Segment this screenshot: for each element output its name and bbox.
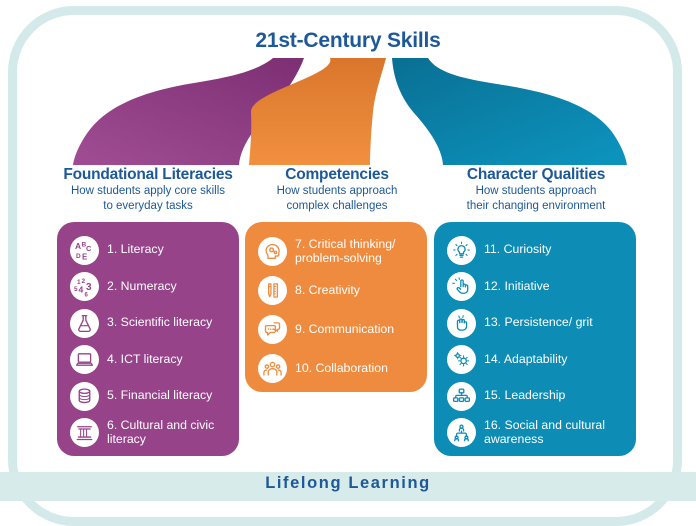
column-heading: Foundational Literacies [40, 165, 256, 184]
skill-item[interactable]: 4. ICT literacy [70, 342, 239, 379]
svg-text:A: A [75, 241, 81, 251]
svg-text:5: 5 [74, 286, 78, 293]
gears-icon [447, 345, 476, 374]
skill-item[interactable]: 1235462. Numeracy [70, 269, 239, 306]
skill-item[interactable]: 12. Initiative [447, 269, 636, 306]
column-header-character: Character Qualities How students approac… [434, 165, 638, 213]
speech-bubbles-icon [258, 315, 287, 344]
character-ribbon [392, 58, 627, 165]
skill-item-label: 6. Cultural and civic literacy [107, 419, 239, 446]
skill-item[interactable]: 15. Leadership [447, 378, 636, 415]
laptop-icon [70, 345, 99, 374]
org-chart-icon [447, 382, 476, 411]
head-gears-icon [258, 237, 287, 266]
skill-item[interactable]: 11. Curiosity [447, 232, 636, 269]
skill-item[interactable]: 14. Adaptability [447, 342, 636, 379]
lightbulb-icon [447, 236, 476, 265]
column-subheading-line2: their changing environment [434, 200, 638, 214]
skill-item[interactable]: 10. Collaboration [258, 349, 427, 388]
people-network-icon [447, 418, 476, 447]
skill-item-label: 4. ICT literacy [107, 353, 183, 367]
skill-item-label: 3. Scientific literacy [107, 316, 212, 330]
panel-foundational-literacies: ABCDE1. Literacy1235462. Numeracy3. Scie… [57, 222, 239, 456]
skill-item-label: 15. Leadership [484, 389, 565, 403]
lifelong-learning-label: Lifelong Learning [0, 474, 696, 493]
column-header-foundational: Foundational Literacies How students app… [40, 165, 256, 213]
column-header-competencies: Competencies How students approach compl… [246, 165, 428, 213]
skill-item-label: 11. Curiosity [484, 243, 551, 257]
skill-item[interactable]: 13. Persistence/ grit [447, 305, 636, 342]
svg-text:6: 6 [84, 292, 88, 298]
svg-text:3: 3 [86, 282, 92, 293]
classical-column-icon [70, 418, 99, 447]
skill-item[interactable]: 6. Cultural and civic literacy [70, 415, 239, 452]
skill-item[interactable]: 9. Communication [258, 310, 427, 349]
pointing-hand-icon [447, 272, 476, 301]
skill-item-label: 2. Numeracy [107, 280, 177, 294]
column-subheading-line2: complex challenges [246, 200, 428, 214]
svg-text:4: 4 [78, 284, 83, 294]
money-stack-icon [70, 382, 99, 411]
column-subheading-line1: How students approach [246, 185, 428, 199]
skill-item-label: 13. Persistence/ grit [484, 316, 593, 330]
panel-character-qualities: 11. Curiosity12. Initiative13. Persisten… [434, 222, 636, 456]
skill-item-label: 8. Creativity [295, 284, 360, 298]
column-heading: Character Qualities [434, 165, 638, 184]
skill-item-label: 16. Social and cultural awareness [484, 419, 636, 446]
skill-item[interactable]: 16. Social and cultural awareness [447, 415, 636, 452]
panel-competencies: 7. Critical thinking/ problem-solving8. … [245, 222, 427, 392]
skill-item[interactable]: 3. Scientific literacy [70, 305, 239, 342]
skill-item-label: 12. Initiative [484, 280, 550, 294]
skill-item-label: 5. Financial literacy [107, 389, 212, 403]
column-heading: Competencies [246, 165, 428, 184]
skill-item[interactable]: 8. Creativity [258, 271, 427, 310]
skill-item-label: 14. Adaptability [484, 353, 567, 367]
skill-item-label: 10. Collaboration [295, 362, 388, 376]
skill-item-label: 1. Literacy [107, 243, 164, 257]
column-subheading-line1: How students apply core skills [40, 185, 256, 199]
svg-text:D: D [76, 253, 81, 260]
flask-icon [70, 309, 99, 338]
skill-item[interactable]: ABCDE1. Literacy [70, 232, 239, 269]
skill-item[interactable]: 7. Critical thinking/ problem-solving [258, 232, 427, 271]
ribbon-group [0, 0, 696, 175]
skill-item-label: 9. Communication [295, 323, 394, 337]
skill-item[interactable]: 5. Financial literacy [70, 378, 239, 415]
column-subheading-line2: to everyday tasks [40, 200, 256, 214]
letters-abcde-icon: ABCDE [70, 236, 99, 265]
pencil-ruler-icon [258, 276, 287, 305]
numbers-icon: 123546 [70, 272, 99, 301]
infographic-canvas: 21st-Century Skills Foundational Literac… [0, 0, 696, 501]
people-group-icon [258, 354, 287, 383]
raised-fist-icon [447, 309, 476, 338]
svg-text:E: E [82, 253, 88, 262]
skill-item-label: 7. Critical thinking/ problem-solving [295, 238, 427, 265]
column-subheading-line1: How students approach [434, 185, 638, 199]
